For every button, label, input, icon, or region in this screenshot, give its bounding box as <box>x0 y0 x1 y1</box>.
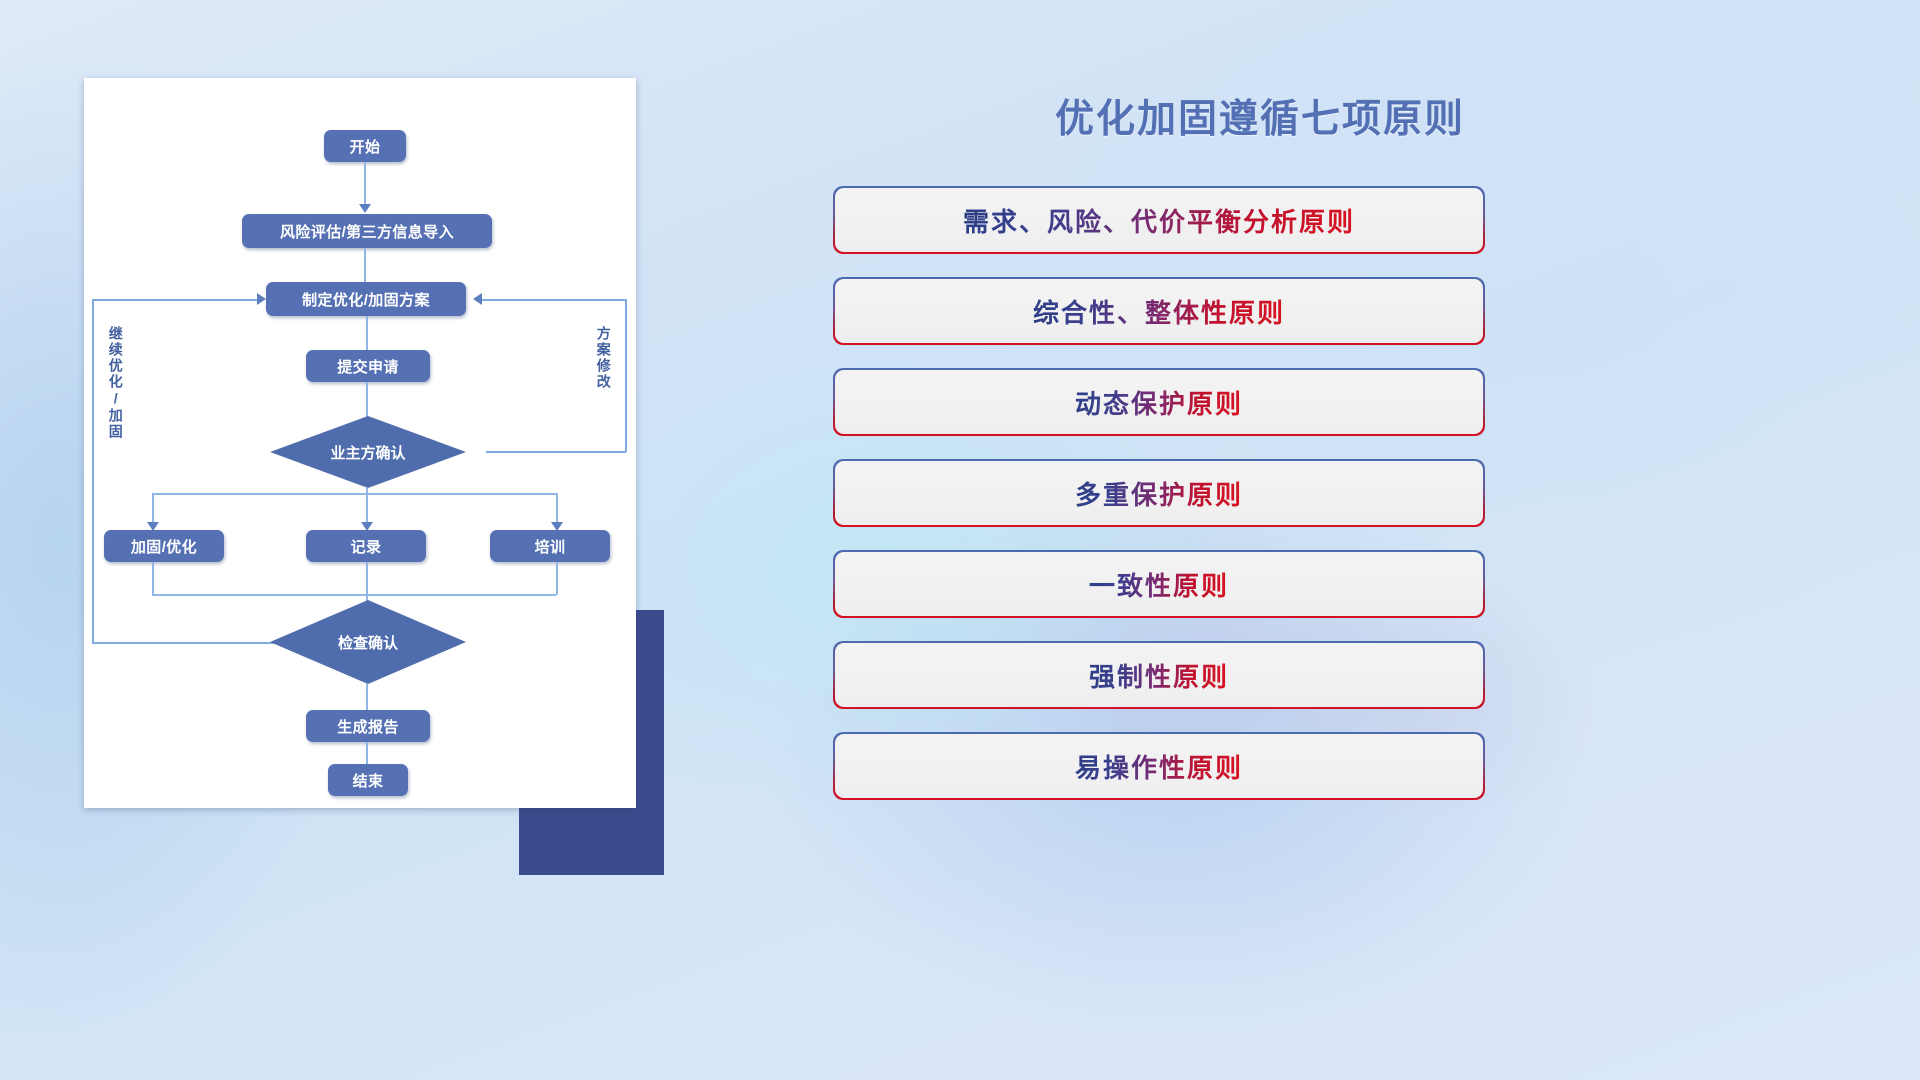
principle-card[interactable]: 强制性原则 <box>835 643 1483 707</box>
flow-node-end[interactable]: 结束 <box>328 764 408 796</box>
flow-node-generate-report[interactable]: 生成报告 <box>306 710 430 742</box>
flow-edge-label-right-loop: 方案修改 <box>596 326 611 390</box>
flow-node-owner-confirm[interactable]: 业主方确认 <box>270 416 466 488</box>
principle-card[interactable]: 一致性原则 <box>835 552 1483 616</box>
flowchart-card: 开始 风险评估/第三方信息导入 制定优化/加固方案 继续优化/加固 方案修改 提… <box>84 78 636 808</box>
flow-node-record[interactable]: 记录 <box>306 530 426 562</box>
flow-node-submit[interactable]: 提交申请 <box>306 350 430 382</box>
flow-node-submit-label: 提交申请 <box>337 356 399 377</box>
loop-left-top-horizontal <box>92 299 258 301</box>
principle-card[interactable]: 动态保护原则 <box>835 370 1483 434</box>
flow-node-start-label: 开始 <box>350 136 381 157</box>
principle-card-label: 易操作性原则 <box>1075 748 1243 785</box>
loop-left-vertical <box>92 299 94 643</box>
merge-bus-horizontal <box>152 594 556 596</box>
loop-right-top-horizontal <box>482 299 626 301</box>
merge-right-rise <box>556 562 558 595</box>
principle-card[interactable]: 多重保护原则 <box>835 461 1483 525</box>
loop-right-vertical <box>625 299 627 452</box>
arrow-down-to-risk <box>359 204 371 213</box>
principle-card-label: 动态保护原则 <box>1075 384 1243 421</box>
principle-card[interactable]: 综合性、整体性原则 <box>835 279 1483 343</box>
flow-node-reinforce-label: 加固/优化 <box>131 536 197 557</box>
flow-node-training[interactable]: 培训 <box>490 530 610 562</box>
flow-node-make-plan[interactable]: 制定优化/加固方案 <box>266 282 466 316</box>
flow-node-record-label: 记录 <box>351 536 382 557</box>
flow-edge-label-left-loop: 继续优化/加固 <box>108 326 123 440</box>
flow-node-risk-assessment-label: 风险评估/第三方信息导入 <box>280 221 454 242</box>
flow-node-end-label: 结束 <box>353 770 384 791</box>
slide-title: 优化加固遵循七项原则 <box>940 88 1580 144</box>
principles-panel: 优化加固遵循七项原则 需求、风险、代价平衡分析原则 综合性、整体性原则 动态保护… <box>835 0 1895 1080</box>
flow-node-risk-assessment[interactable]: 风险评估/第三方信息导入 <box>242 214 492 248</box>
branch-bus-horizontal <box>152 493 556 495</box>
flow-node-generate-report-label: 生成报告 <box>337 716 399 737</box>
connector-start-to-risk <box>364 162 366 208</box>
flowchart-panel: 开始 风险评估/第三方信息导入 制定优化/加固方案 继续优化/加固 方案修改 提… <box>84 70 664 810</box>
principles-list: 需求、风险、代价平衡分析原则 综合性、整体性原则 动态保护原则 多重保护原则 一… <box>835 188 1483 825</box>
flow-node-make-plan-label: 制定优化/加固方案 <box>302 289 430 310</box>
flow-node-owner-confirm-label: 业主方确认 <box>330 442 405 463</box>
flow-node-start[interactable]: 开始 <box>324 130 406 162</box>
arrow-left-into-plan <box>473 293 482 305</box>
principle-card-label: 一致性原则 <box>1089 566 1229 603</box>
flow-node-training-label: 培训 <box>535 536 566 557</box>
principle-card-label: 强制性原则 <box>1089 657 1229 694</box>
principle-card[interactable]: 易操作性原则 <box>835 734 1483 798</box>
flow-node-check-confirm[interactable]: 检查确认 <box>270 600 466 684</box>
principle-card-label: 多重保护原则 <box>1075 475 1243 512</box>
principle-card[interactable]: 需求、风险、代价平衡分析原则 <box>835 188 1483 252</box>
loop-right-bottom-horizontal <box>486 451 626 453</box>
principle-card-label: 综合性、整体性原则 <box>1033 293 1285 330</box>
flow-node-check-confirm-label: 检查确认 <box>338 632 398 653</box>
merge-left-rise <box>152 562 154 595</box>
arrow-right-into-plan <box>257 293 266 305</box>
principle-card-label: 需求、风险、代价平衡分析原则 <box>963 202 1355 239</box>
flow-node-reinforce[interactable]: 加固/优化 <box>104 530 224 562</box>
